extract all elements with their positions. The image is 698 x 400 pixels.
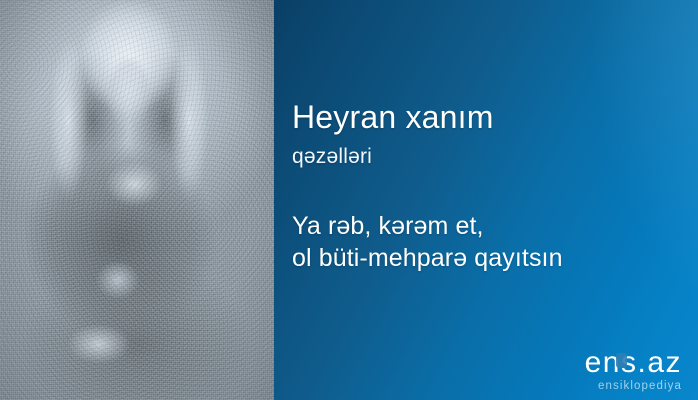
poem-line-1: Ya rəb, kərəm et,: [292, 210, 692, 243]
blue-gradient-panel: Heyran xanım qəzəlləri Ya rəb, kərəm et,…: [274, 0, 698, 400]
ens-az-logo[interactable]: ens.az ensiklopediya: [585, 348, 682, 393]
text-block: Heyran xanım qəzəlləri Ya rəb, kərəm et,…: [292, 100, 692, 275]
portrait-image: [0, 0, 274, 400]
page-subtitle: qəzəlləri: [292, 145, 692, 169]
page-title: Heyran xanım: [292, 100, 692, 136]
ens-az-quote-card: Heyran xanım qəzəlləri Ya rəb, kərəm et,…: [0, 0, 698, 400]
poem-line-2: ol büti-mehparə qayıtsın: [292, 242, 692, 275]
poem-text: Ya rəb, kərəm et, ol büti-mehparə qayıts…: [292, 210, 692, 275]
logo-wordmark: ens.az: [585, 348, 682, 378]
logo-tagline: ensiklopediya: [585, 381, 682, 393]
logo-accent-icon: [616, 353, 627, 368]
portrait-vignette: [0, 0, 274, 400]
